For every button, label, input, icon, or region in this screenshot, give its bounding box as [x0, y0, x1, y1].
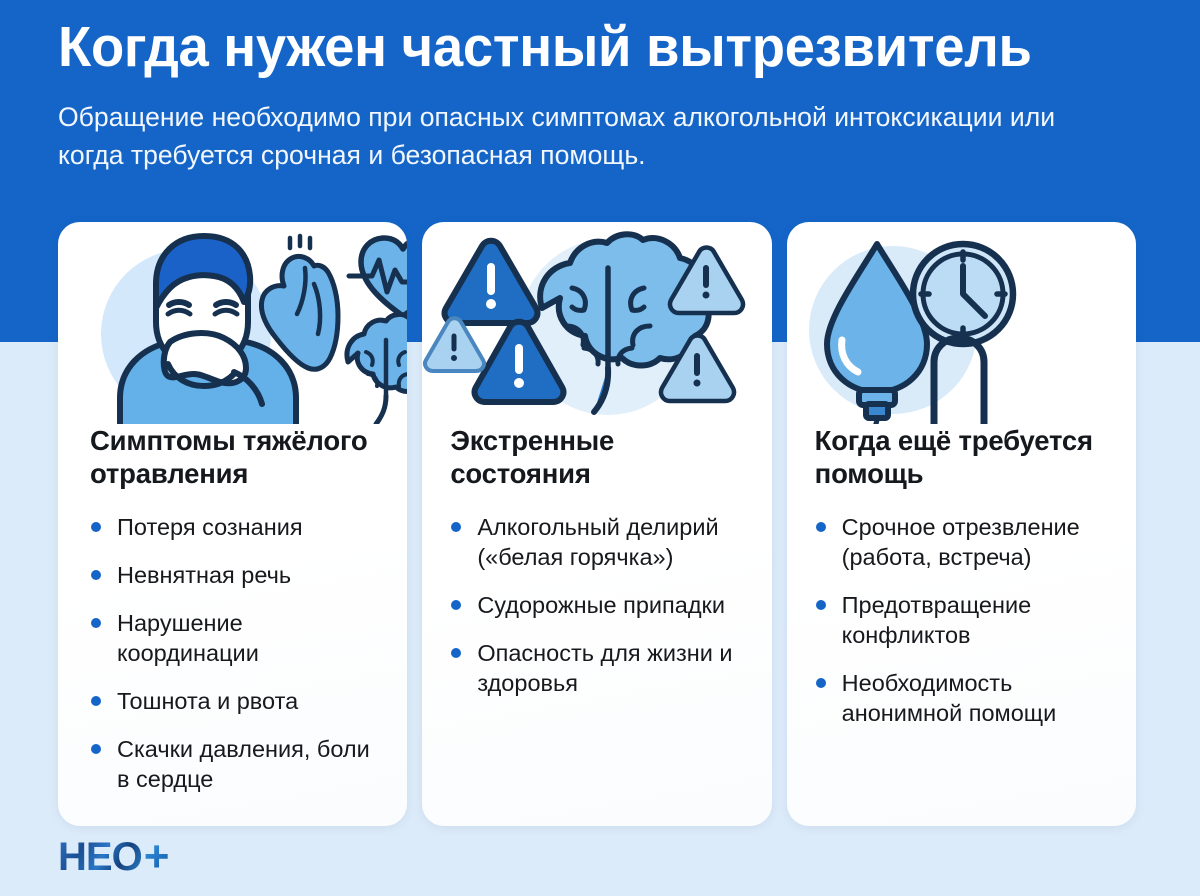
warning-triangle-icon: [425, 318, 484, 371]
heartbeat-heart-icon: [349, 238, 407, 316]
bullet-dot-icon: [816, 678, 826, 688]
card-illustration-3: [787, 222, 1136, 424]
list-item-label: Предотвращение конфликтов: [842, 592, 1031, 648]
infographic-poster: Когда нужен частный вытрезвитель Обращен…: [0, 0, 1200, 896]
list-item: Невнятная речь: [90, 560, 383, 590]
bullet-dot-icon: [91, 522, 101, 532]
warning-triangle-icon: [445, 241, 538, 323]
card-heading-2: Экстренные состояния: [450, 424, 747, 490]
anatomical-heart-icon: [261, 236, 338, 369]
header-content: Когда нужен частный вытрезвитель Обращен…: [58, 14, 1153, 174]
list-item-label: Срочное отрезвление (работа, встреча): [842, 514, 1080, 570]
card-body-2: Экстренные состояния Алкогольный делирий…: [422, 424, 771, 826]
list-item-label: Невнятная речь: [117, 562, 291, 588]
list-item: Судорожные припадки: [450, 590, 747, 620]
bullet-dot-icon: [816, 522, 826, 532]
bullet-dot-icon: [451, 522, 461, 532]
logo-plus-icon: +: [144, 836, 170, 878]
card-body-1: Симптомы тяжёлого отравления Потеря созн…: [58, 424, 407, 826]
brand-logo: НЕО +: [58, 836, 169, 878]
bullet-dot-icon: [816, 600, 826, 610]
bullet-list-1: Потеря сознания Невнятная речь Нарушение…: [90, 512, 383, 794]
bullet-dot-icon: [91, 696, 101, 706]
card-body-3: Когда ещё требуется помощь Срочное отрез…: [787, 424, 1136, 826]
list-item: Необходимость анонимной помощи: [815, 668, 1124, 728]
card-illustration-1: [58, 222, 407, 424]
card-emergency-states: Экстренные состояния Алкогольный делирий…: [422, 222, 771, 826]
card-other-help: Когда ещё требуется помощь Срочное отрез…: [787, 222, 1136, 826]
brain-icon: [347, 314, 407, 424]
bullet-dot-icon: [451, 648, 461, 658]
list-item-label: Необходимость анонимной помощи: [842, 670, 1057, 726]
bullet-dot-icon: [91, 744, 101, 754]
list-item-label: Опасность для жизни и здоровья: [477, 640, 732, 696]
list-item: Алкогольный делирий («белая горячка»): [450, 512, 747, 572]
list-item: Предотвращение конфликтов: [815, 590, 1124, 650]
page-subtitle: Обращение необходимо при опасных симптом…: [58, 98, 1073, 174]
list-item: Тошнота и рвота: [90, 686, 383, 716]
card-illustration-2: [422, 222, 771, 424]
card-heading-1: Симптомы тяжёлого отравления: [90, 424, 383, 490]
bullet-dot-icon: [91, 618, 101, 628]
card-severe-poisoning: Симптомы тяжёлого отравления Потеря созн…: [58, 222, 407, 826]
list-item-label: Алкогольный делирий («белая горячка»): [477, 514, 718, 570]
bullet-list-3: Срочное отрезвление (работа, встреча) Пр…: [815, 512, 1124, 728]
bullet-dot-icon: [91, 570, 101, 580]
list-item: Нарушение координации: [90, 608, 383, 668]
list-item-label: Судорожные припадки: [477, 592, 725, 618]
list-item-label: Тошнота и рвота: [117, 688, 298, 714]
logo-wordmark: НЕО: [58, 836, 142, 878]
list-item: Потеря сознания: [90, 512, 383, 542]
list-item-label: Скачки давления, боли в сердце: [117, 736, 370, 792]
list-item: Срочное отрезвление (работа, встреча): [815, 512, 1124, 572]
clock-icon: [913, 244, 1013, 344]
list-item: Опасность для жизни и здоровья: [450, 638, 747, 698]
list-item-label: Нарушение координации: [117, 610, 259, 666]
bullet-list-2: Алкогольный делирий («белая горячка») Су…: [450, 512, 747, 698]
list-item-label: Потеря сознания: [117, 514, 303, 540]
page-title: Когда нужен частный вытрезвитель: [58, 14, 1104, 80]
card-heading-3: Когда ещё требуется помощь: [815, 424, 1124, 490]
list-item: Скачки давления, боли в сердце: [90, 734, 383, 794]
cards-row: Симптомы тяжёлого отравления Потеря созн…: [58, 222, 1136, 826]
bullet-dot-icon: [451, 600, 461, 610]
